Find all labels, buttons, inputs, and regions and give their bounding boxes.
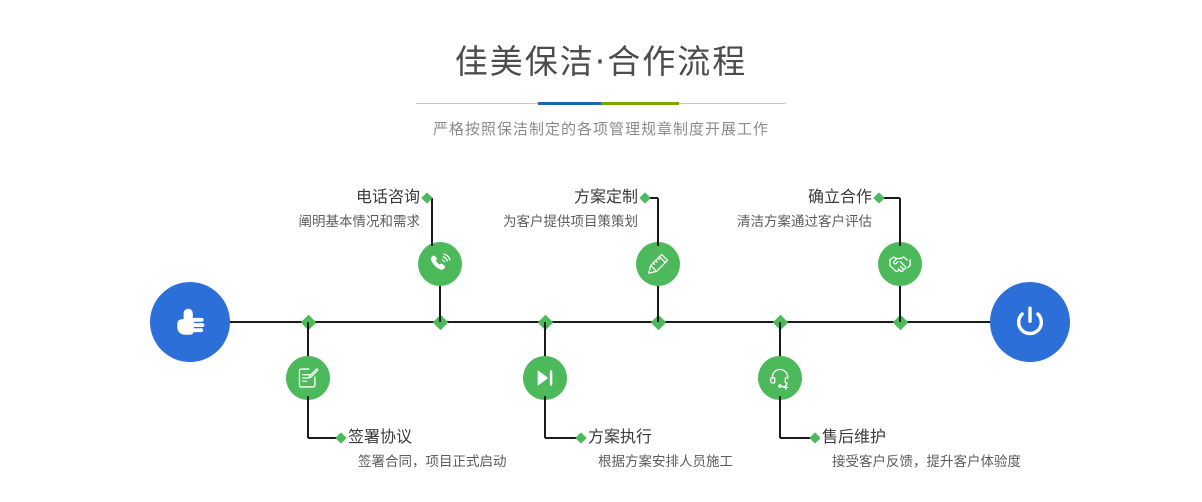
timeline-start-endpoint[interactable] [150, 282, 230, 362]
step-label-step-4: 方案执行根据方案安排人员施工 [588, 428, 733, 469]
connector-stem-step-3 [657, 280, 659, 322]
leader-vertical-step-6 [779, 396, 781, 438]
leader-tip-step-5 [873, 192, 884, 203]
step-title-step-4: 方案执行 [588, 428, 733, 446]
play-forward-icon [532, 365, 558, 391]
leader-tip-step-2 [335, 432, 346, 443]
leader-tip-step-6 [809, 432, 820, 443]
pencil-ruler-icon [645, 251, 671, 277]
step-node-step-1[interactable] [418, 242, 462, 286]
step-title-step-5: 确立合作 [612, 188, 872, 206]
headset-support-icon [767, 365, 793, 391]
step-node-step-2[interactable] [286, 356, 330, 400]
connector-stem-step-1 [439, 280, 441, 322]
step-desc-step-3: 为客户提供项目策策划 [378, 215, 638, 230]
document-sign-icon [295, 365, 321, 391]
step-label-step-2: 签署协议签署合同，项目正式启动 [348, 428, 507, 469]
power-icon [1008, 300, 1052, 344]
step-desc-step-2: 签署合同，项目正式启动 [358, 455, 507, 470]
step-title-step-6: 售后维护 [822, 428, 1021, 446]
step-node-step-5[interactable] [878, 242, 922, 286]
pointing-hand-icon [167, 299, 213, 345]
step-node-step-6[interactable] [758, 356, 802, 400]
phone-call-icon [427, 251, 453, 277]
step-label-step-3: 方案定制为客户提供项目策策划 [378, 188, 638, 229]
step-desc-step-5: 清洁方案通过客户评估 [612, 215, 872, 230]
connector-stem-step-5 [899, 280, 901, 322]
step-title-step-2: 签署协议 [348, 428, 507, 446]
leader-vertical-step-5 [899, 198, 901, 246]
step-node-step-3[interactable] [636, 242, 680, 286]
leader-vertical-step-4 [544, 396, 546, 438]
step-label-step-6: 售后维护接受客户反馈，提升客户体验度 [822, 428, 1021, 469]
step-node-step-4[interactable] [523, 356, 567, 400]
process-flow-infographic: 佳美保洁·合作流程 严格按照保洁制定的各项管理规章制度开展工作 电话咨询阐明基本… [0, 0, 1202, 502]
step-desc-step-6: 接受客户反馈，提升客户体验度 [832, 455, 1021, 470]
step-desc-step-4: 根据方案安排人员施工 [598, 455, 733, 470]
step-title-step-3: 方案定制 [378, 188, 638, 206]
leader-vertical-step-2 [307, 396, 309, 438]
step-label-step-5: 确立合作清洁方案通过客户评估 [612, 188, 872, 229]
timeline-end-endpoint[interactable] [990, 282, 1070, 362]
timeline: 电话咨询阐明基本情况和需求签署协议签署合同，项目正式启动方案定制为客户提供项目策… [0, 0, 1202, 502]
leader-tip-step-4 [575, 432, 586, 443]
handshake-icon [887, 251, 913, 277]
